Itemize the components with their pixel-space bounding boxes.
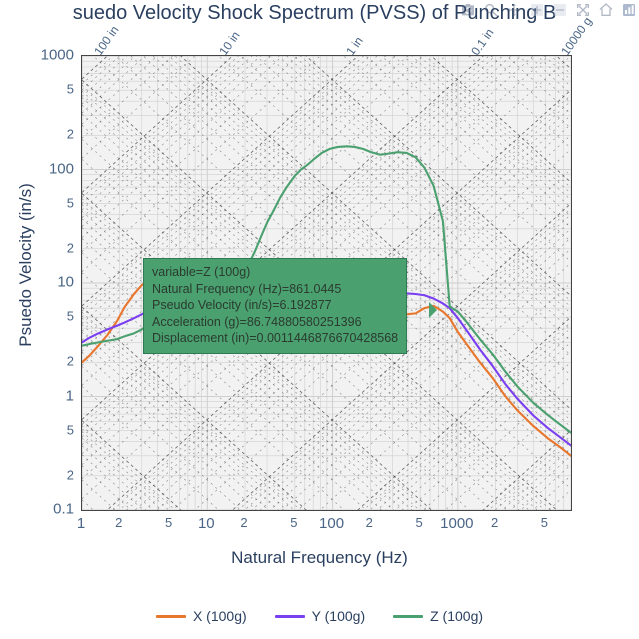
hover-line: Acceleration (g)=86.74880580251396 xyxy=(152,314,398,331)
legend-swatch-icon xyxy=(275,615,305,618)
y-tick-label: 5 xyxy=(0,195,74,210)
y-tick-label: 2 xyxy=(0,127,74,142)
autoscale-icon[interactable] xyxy=(574,1,591,18)
hover-line: Displacement (in)=0.0011446876670428568 xyxy=(152,330,398,347)
y-tick-label: 2 xyxy=(0,467,74,482)
hover-line: variable=Z (100g) xyxy=(152,264,398,281)
nomograph-displacement-label: 0.1 in xyxy=(468,26,496,58)
legend-item-z[interactable]: Z (100g) xyxy=(393,608,483,624)
legend-label: Y (100g) xyxy=(312,608,365,624)
y-tick-label: 1000 xyxy=(0,47,74,64)
legend-label: Z (100g) xyxy=(430,608,483,624)
x-tick-label: 2 xyxy=(240,515,247,530)
plotly-logo-icon[interactable] xyxy=(620,1,637,18)
y-tick-label: 5 xyxy=(0,422,74,437)
legend-swatch-icon xyxy=(393,615,423,618)
x-tick-label: 5 xyxy=(165,515,172,530)
x-tick-label: 2 xyxy=(115,515,122,530)
x-tick-label: 5 xyxy=(541,515,548,530)
x-axis-title: Natural Frequency (Hz) xyxy=(0,548,639,568)
legend-label: X (100g) xyxy=(193,608,247,624)
legend-item-y[interactable]: Y (100g) xyxy=(275,608,365,624)
hover-line: Pseudo Velocity (in/s)=6.192877 xyxy=(152,297,398,314)
nomograph-displacement-label: 100 in xyxy=(91,23,121,58)
chart-legend[interactable]: X (100g)Y (100g)Z (100g) xyxy=(0,608,639,624)
x-tick-label: 2 xyxy=(491,515,498,530)
y-tick-label: 100 xyxy=(0,160,74,177)
y-tick-label: 5 xyxy=(0,309,74,324)
pan-icon[interactable] xyxy=(505,1,522,18)
hover-tooltip: variable=Z (100g)Natural Frequency (Hz)=… xyxy=(143,258,407,354)
x-tick-label: 10 xyxy=(198,515,215,532)
x-tick-label: 5 xyxy=(416,515,423,530)
y-tick-label: 0.1 xyxy=(0,501,74,518)
legend-swatch-icon xyxy=(156,615,186,618)
hover-line: Natural Frequency (Hz)=861.0445 xyxy=(152,281,398,298)
y-tick-label: 5 xyxy=(0,82,74,97)
y-tick-label: 2 xyxy=(0,240,74,255)
x-tick-label: 100 xyxy=(319,515,344,532)
reset-axes-icon[interactable] xyxy=(597,1,614,18)
x-tick-label: 1 xyxy=(77,515,85,532)
y-tick-label: 1 xyxy=(0,387,74,404)
plotly-figure: suedo Velocity Shock Spectrum (PVSS) of … xyxy=(0,0,639,639)
download-plot-icon[interactable] xyxy=(459,1,476,18)
nomograph-displacement-label: 10 in xyxy=(217,29,243,58)
x-tick-label: 2 xyxy=(366,515,373,530)
x-tick-label: 5 xyxy=(290,515,297,530)
y-tick-label: 2 xyxy=(0,354,74,369)
x-tick-label: 1000 xyxy=(440,515,473,532)
plotly-modebar[interactable] xyxy=(459,1,637,18)
zoom-in-icon[interactable] xyxy=(528,1,545,18)
zoom-out-icon[interactable] xyxy=(551,1,568,18)
legend-item-x[interactable]: X (100g) xyxy=(156,608,247,624)
zoom-icon[interactable] xyxy=(482,1,499,18)
hover-tooltip-arrow xyxy=(429,302,437,318)
y-tick-label: 10 xyxy=(0,274,74,291)
